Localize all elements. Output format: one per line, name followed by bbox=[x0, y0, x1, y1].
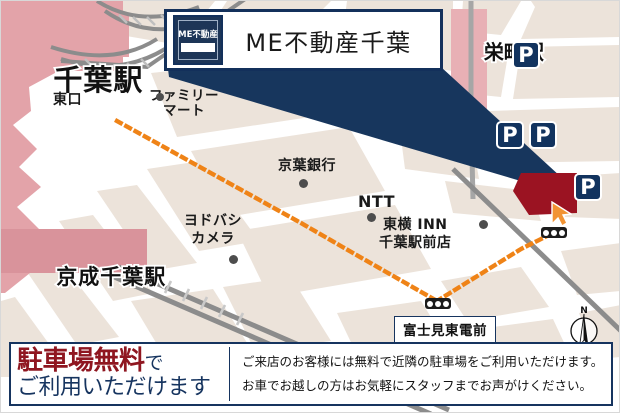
banner-note-line2: お車でお越しの方はお気軽にスタッフまでお声がけください。 bbox=[242, 374, 605, 398]
traffic-signal-icon-1 bbox=[541, 227, 567, 238]
station-label-keisei-chiba: 京成千葉駅 bbox=[23, 237, 166, 315]
parking-icon-1[interactable]: P bbox=[512, 41, 540, 69]
destination-cursor-arrow-icon bbox=[550, 201, 572, 227]
map-container: ME不動産 ME不動産千葉 千葉駅 京成千葉駅 栄町駅 東口 ファミリー マート… bbox=[0, 0, 620, 413]
poi-dot-familymart bbox=[156, 93, 164, 101]
poi-label-keiyo-bank: 京葉銀行 bbox=[278, 159, 336, 174]
poi-dot-toyoko-inn bbox=[479, 220, 488, 229]
banner-headline-free: 駐車場無料 bbox=[17, 346, 145, 376]
signal-lamp bbox=[435, 301, 441, 307]
banner-note: ご来店のお客様には無料で近隣の駐車場をご利用いただけます。 お車でお越しの方はお… bbox=[230, 344, 611, 404]
signal-lamp bbox=[427, 301, 433, 307]
station-label-keisei-chiba-text: 京成千葉駅 bbox=[56, 265, 166, 289]
station-label-chiba: 千葉駅 bbox=[9, 23, 143, 133]
me-logo-mark: ME不動産 bbox=[173, 15, 223, 65]
poi-label-ntt: NTT bbox=[358, 193, 395, 210]
signal-lamp bbox=[559, 230, 565, 236]
signal-lamp bbox=[551, 230, 557, 236]
logo-mark-label: ME不動産 bbox=[178, 28, 218, 40]
poi-label-higashiguchi: 東口 bbox=[53, 93, 82, 108]
poi-dot-yodobashi-camera bbox=[229, 255, 238, 264]
signal-lamp bbox=[443, 301, 449, 307]
poi-label-yodobashi-camera: ヨドバシ カメラ bbox=[184, 213, 242, 248]
poi-label-toyoko-inn: 東横 INN 千葉駅前店 bbox=[379, 217, 452, 252]
intersection-label-fujimihigashidenmae: 富士見東電前 bbox=[394, 316, 496, 343]
poi-dot-ntt bbox=[367, 213, 376, 222]
station-label-sakaemachi: 栄町駅 bbox=[456, 19, 482, 86]
banner-headline: 駐車場無料で ご利用いただけます bbox=[11, 344, 229, 404]
signal-lamp bbox=[543, 230, 549, 236]
parking-icon-4[interactable]: P bbox=[574, 173, 602, 201]
traffic-signal-icon-2 bbox=[425, 298, 451, 309]
logo-mark-inner-border bbox=[178, 20, 218, 60]
banner-headline-de: で bbox=[145, 352, 164, 374]
logo-title: ME不動産千葉 bbox=[223, 23, 434, 58]
parking-free-banner: 駐車場無料で ご利用いただけます ご来店のお客様には無料で近隣の駐車場をご利用い… bbox=[9, 342, 613, 406]
banner-headline-line1: 駐車場無料で bbox=[17, 348, 225, 375]
banner-headline-line2: ご利用いただけます bbox=[17, 375, 225, 400]
poi-dot-keiyo-bank bbox=[299, 179, 308, 188]
me-logo-callout: ME不動産 ME不動産千葉 bbox=[164, 9, 443, 71]
parking-icon-2[interactable]: P bbox=[496, 121, 524, 149]
logo-mark-bar bbox=[181, 43, 215, 52]
parking-icon-3[interactable]: P bbox=[529, 121, 557, 149]
banner-note-line1: ご来店のお客様には無料で近隣の駐車場をご利用いただけます。 bbox=[242, 350, 605, 374]
